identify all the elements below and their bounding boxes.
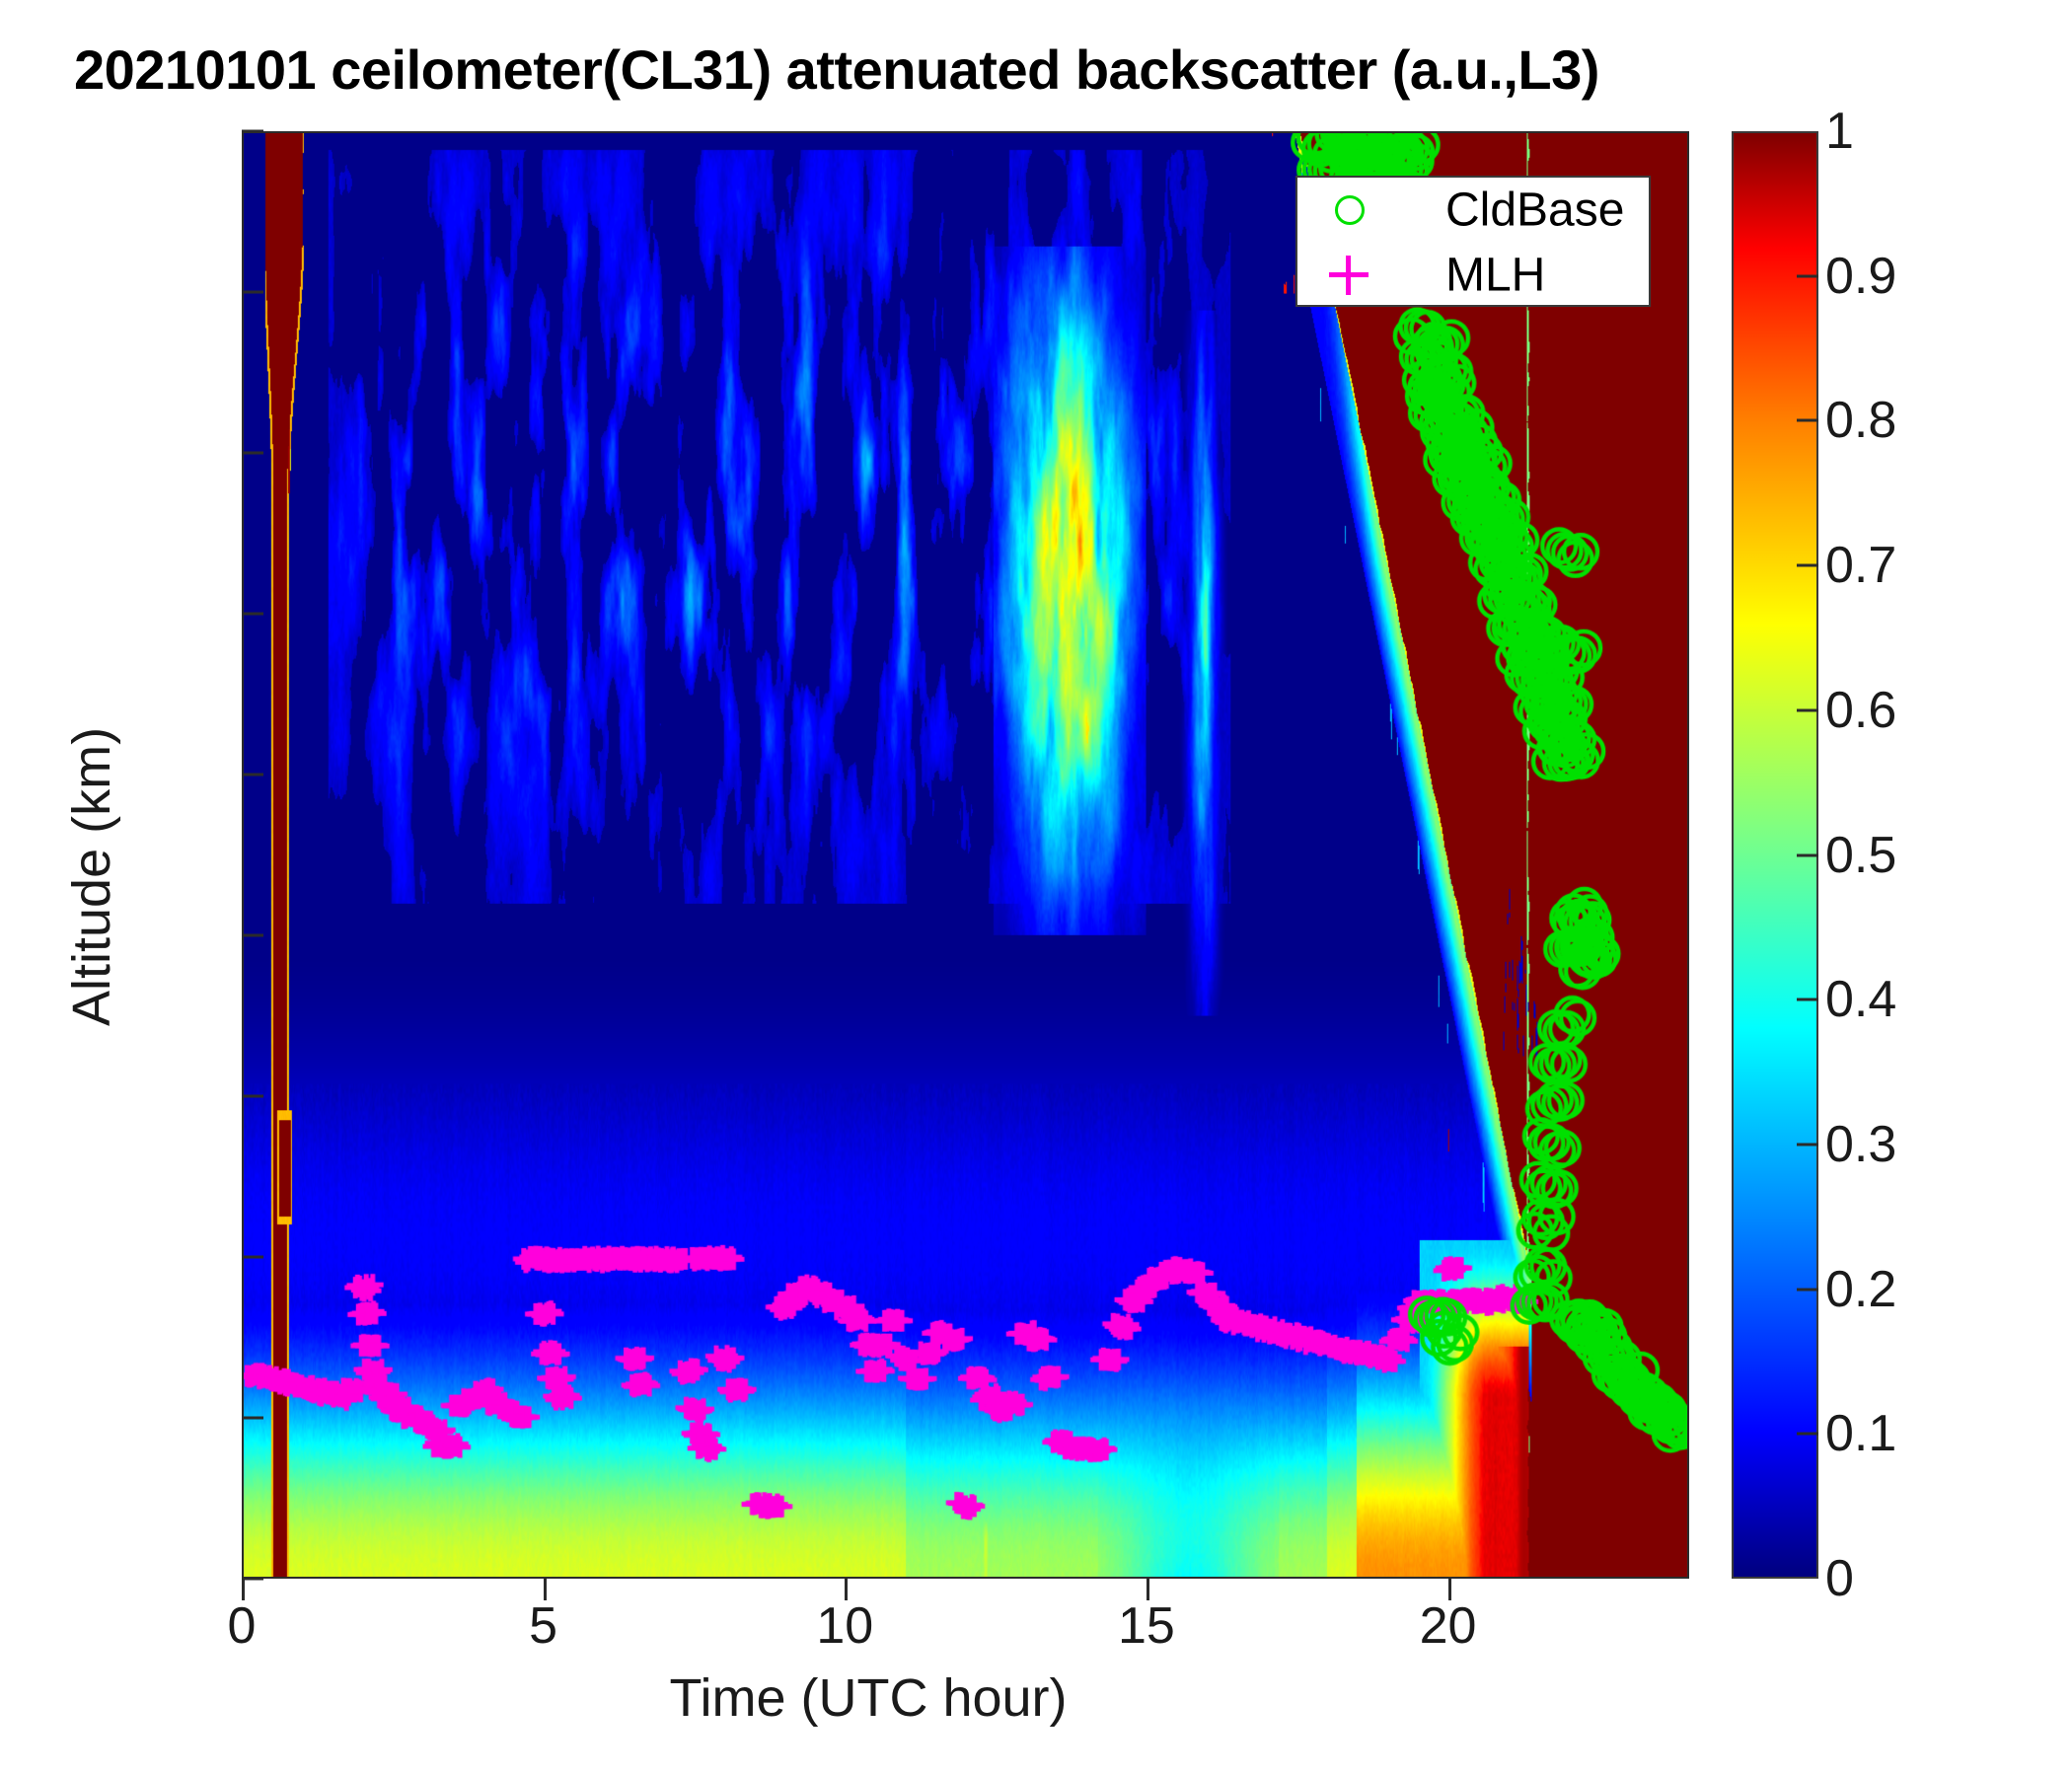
legend-label-mlh: MLH (1445, 249, 1545, 303)
colorbar-tick-label: 0.3 (1825, 1115, 1896, 1174)
colorbar-tick-mark (1797, 564, 1818, 567)
x-axis-tick-mark (845, 1579, 848, 1600)
colorbar-tick-mark (1797, 274, 1818, 277)
x-axis-tick-mark (1147, 1579, 1149, 1600)
colorbar-tick-mark (1797, 999, 1818, 1001)
colorbar-tick-mark (1797, 1143, 1818, 1146)
colorbar-tick-mark (1797, 1288, 1818, 1291)
x-axis-tick-label: 20 (1420, 1596, 1477, 1656)
colorbar-tick-label: 0.6 (1825, 681, 1896, 740)
x-axis-label-text: Time (UTC hour) (669, 1668, 1067, 1728)
backscatter-heatmap-canvas (244, 133, 1687, 1577)
legend-entry-cldbase[interactable]: CldBase (1297, 178, 1649, 243)
legend-entry-mlh[interactable]: MLH (1297, 243, 1649, 308)
y-axis-tick-mark (242, 291, 263, 294)
colorbar-tick-label: 0.9 (1825, 247, 1896, 306)
colorbar-tick-mark (1797, 708, 1818, 711)
colorbar-tick-label: 0.7 (1825, 536, 1896, 595)
y-axis-tick-mark (242, 613, 263, 616)
x-axis-tick-label: 0 (228, 1596, 257, 1656)
colorbar-tick-label: 0.2 (1825, 1260, 1896, 1319)
y-axis-tick-mark (242, 934, 263, 937)
x-axis-tick-mark (544, 1579, 547, 1600)
legend-label-cldbase: CldBase (1445, 184, 1624, 238)
x-axis-tick-label: 15 (1118, 1596, 1175, 1656)
colorbar-tick-mark (1797, 1433, 1818, 1436)
chart-title: 20210101 ceilometer(CL31) attenuated bac… (74, 37, 1751, 102)
y-axis-label: Altitude (km) (61, 727, 122, 1026)
y-axis-tick-mark (242, 1095, 263, 1098)
y-axis-tick-mark (242, 1256, 263, 1259)
y-axis-tick-mark (242, 1417, 263, 1420)
colorbar-tick-mark (1797, 853, 1818, 856)
x-axis-tick-label: 5 (529, 1596, 557, 1656)
colorbar-tick-label: 0.1 (1825, 1404, 1896, 1463)
circle-marker-icon (1327, 187, 1372, 233)
colorbar-tick-label: 0.5 (1825, 826, 1896, 885)
y-axis-tick-mark (242, 130, 263, 133)
y-axis-tick-mark (242, 774, 263, 777)
heatmap-plot-area (242, 131, 1689, 1579)
plus-marker-icon (1327, 253, 1372, 298)
x-axis-tick-mark (1448, 1579, 1451, 1600)
colorbar-tick-label: 0.8 (1825, 391, 1896, 450)
x-axis-tick-mark (242, 1579, 245, 1600)
x-axis-tick-label: 10 (816, 1596, 873, 1656)
chart-legend[interactable]: CldBase MLH (1295, 176, 1651, 307)
colorbar-tick-label: 0.4 (1825, 970, 1896, 1029)
colorbar-tick-label: 0 (1825, 1549, 1854, 1608)
y-axis-tick-mark (242, 452, 263, 455)
y-axis-tick-mark (242, 1578, 263, 1581)
colorbar-tick-label: 1 (1825, 102, 1854, 161)
x-axis-label: Time (UTC hour) (0, 1667, 2072, 1729)
colorbar-tick-mark (1797, 419, 1818, 422)
